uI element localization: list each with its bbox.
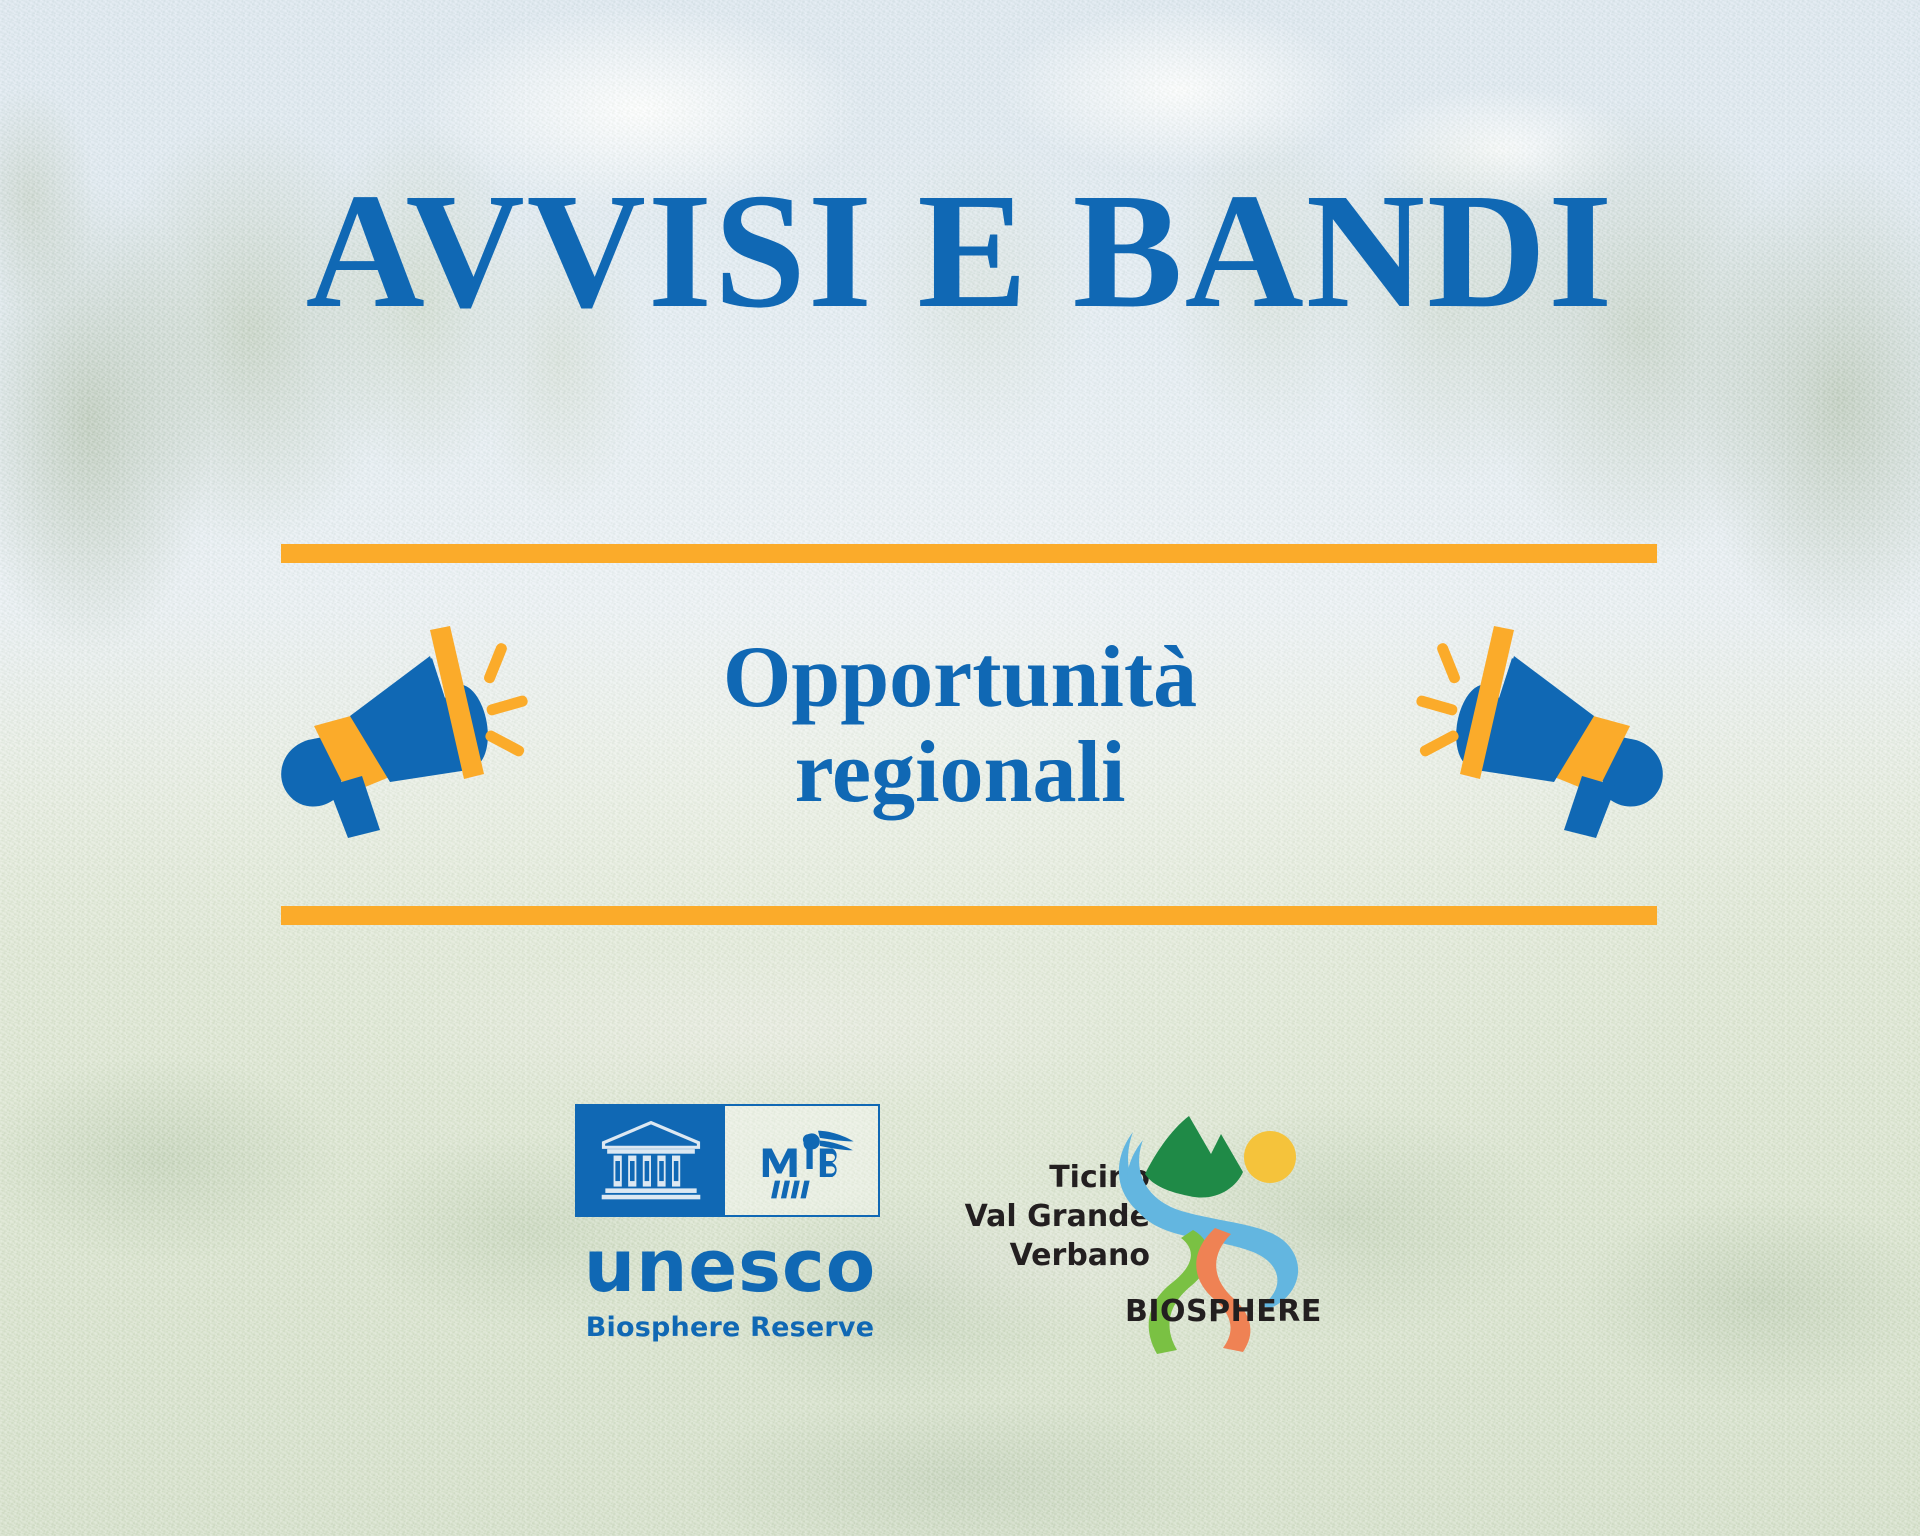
megaphone-left-icon bbox=[262, 618, 562, 838]
logo-row: unesco Biosphere Reserve Ticino Val Gran… bbox=[0, 1100, 1920, 1370]
poster-canvas: AVVISI E BANDI bbox=[0, 0, 1920, 1536]
ticino-biosphere-label: BIOSPHERE bbox=[1125, 1294, 1322, 1329]
unesco-wordmark: unesco bbox=[575, 1230, 885, 1302]
page-title: AVVISI E BANDI bbox=[0, 168, 1920, 333]
unesco-tagline: Biosphere Reserve bbox=[575, 1312, 885, 1343]
unesco-logo: unesco Biosphere Reserve bbox=[575, 1104, 885, 1343]
mab-icon bbox=[725, 1106, 878, 1215]
page-subtitle: Opportunità regionali bbox=[560, 630, 1360, 820]
unesco-emblem-box bbox=[575, 1104, 880, 1217]
divider-bar-top bbox=[281, 544, 1657, 563]
unesco-temple-icon bbox=[577, 1106, 725, 1215]
megaphone-right-icon bbox=[1382, 618, 1682, 838]
ticino-logo: Ticino Val Grande Verbano bbox=[935, 1110, 1355, 1360]
divider-bar-bottom bbox=[281, 906, 1657, 925]
